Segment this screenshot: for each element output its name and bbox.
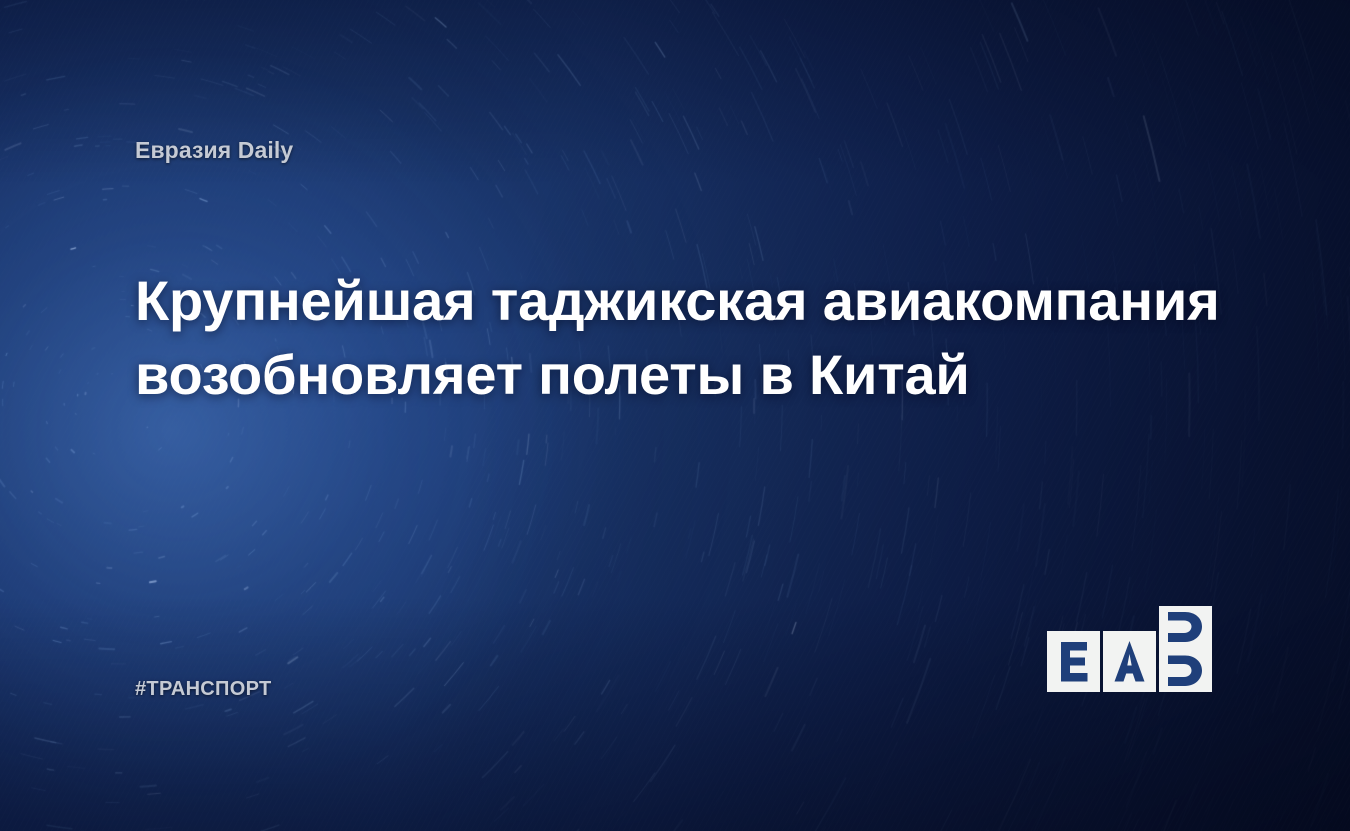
logo-tile-d xyxy=(1159,606,1212,692)
eadaily-logo xyxy=(1047,631,1212,692)
page-title: Крупнейшая таджикская авиакомпания возоб… xyxy=(135,264,1245,413)
news-card: Евразия Daily Крупнейшая таджикская авиа… xyxy=(0,0,1350,831)
card-content: Евразия Daily Крупнейшая таджикская авиа… xyxy=(0,0,1350,831)
category-hashtag: #ТРАНСПОРТ xyxy=(135,678,271,701)
logo-tile-a xyxy=(1103,631,1156,692)
brand-wordmark: Евразия Daily xyxy=(135,137,293,164)
logo-d-upper xyxy=(1159,606,1212,649)
logo-tile-e xyxy=(1047,631,1100,692)
logo-d-lower xyxy=(1159,649,1212,692)
